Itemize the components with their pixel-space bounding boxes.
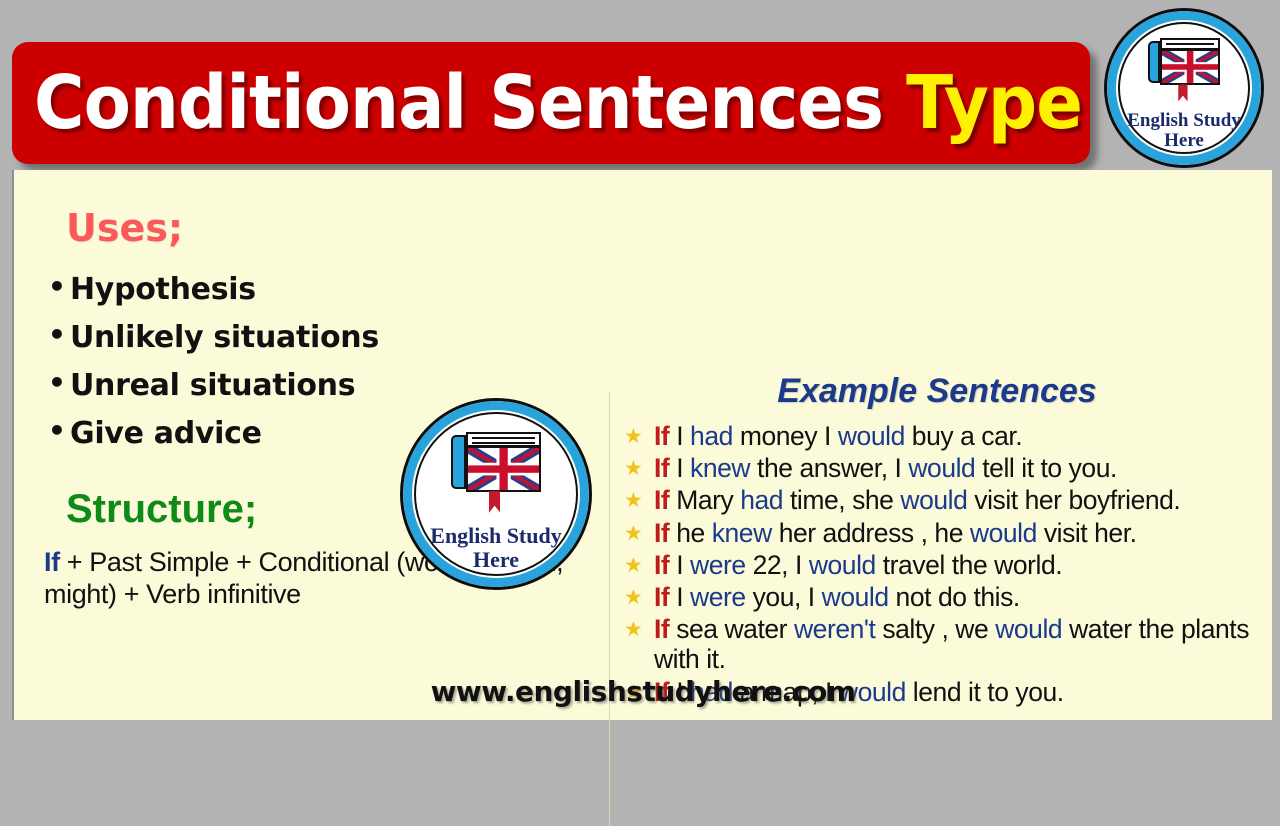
list-item: ★If I had money I would buy a car. (622, 421, 1280, 451)
examples-heading: Example Sentences (622, 372, 1280, 411)
keyword-verb: weren't (794, 614, 875, 644)
sentence-text: salty , we (875, 614, 995, 644)
sentence-text: I (669, 453, 690, 483)
page-title-space (883, 60, 906, 146)
book-uk-flag-icon (451, 432, 541, 493)
page-title-main: Conditional Sentences (34, 60, 883, 146)
title-banner: Conditional Sentences Type 2 (12, 42, 1090, 164)
book-spine (451, 435, 465, 489)
keyword-verb: knew (690, 453, 750, 483)
star-icon: ★ (624, 588, 643, 607)
book-uk-flag-icon (1148, 38, 1220, 85)
sentence-text: I (669, 582, 690, 612)
logo-inner: English Study Here (1118, 22, 1250, 154)
sentence-text: he (669, 518, 711, 548)
list-item: ★If I knew the answer, I would tell it t… (622, 453, 1280, 483)
uk-flag-svg (1162, 51, 1218, 83)
sentence-text: you, I (746, 582, 822, 612)
star-icon: ★ (624, 556, 643, 575)
list-item: ★If he knew her address , he would visit… (622, 518, 1280, 548)
sentence-text: buy a car. (905, 421, 1022, 451)
keyword-verb: would (900, 485, 967, 515)
keyword-if: If (654, 614, 669, 644)
keyword-verb: would (908, 453, 975, 483)
keyword-verb: knew (712, 518, 772, 548)
logo-brand-line1: English Study (430, 523, 561, 548)
uk-flag-icon (466, 446, 541, 492)
keyword-verb: would (822, 582, 889, 612)
list-item: ★If I were 22, I would travel the world. (622, 550, 1280, 580)
list-item: ★If I were you, I would not do this. (622, 582, 1280, 612)
uses-heading: Uses; (66, 206, 604, 250)
logo-brand-line1: English Study (1127, 110, 1241, 131)
examples-list: ★If I had money I would buy a car.★If I … (622, 421, 1280, 707)
sentence-text: I (669, 421, 690, 451)
keyword-if: If (654, 518, 669, 548)
book-text-lines (466, 432, 541, 448)
sentence-text: Mary (669, 485, 740, 515)
keyword-verb: were (690, 582, 746, 612)
uk-flag-icon (1160, 49, 1220, 85)
list-item: ★If Mary had time, she would visit her b… (622, 485, 1280, 515)
keyword-verb: had (740, 485, 783, 515)
sentence-text: her address , he (772, 518, 970, 548)
brand-logo-center: English Study Here (400, 398, 592, 590)
sentence-text: visit her boyfriend. (967, 485, 1180, 515)
logo-brand-line2: Here (1164, 130, 1204, 151)
sentence-text: visit her. (1037, 518, 1137, 548)
logo-brand-line2: Here (473, 547, 519, 572)
keyword-verb: were (690, 550, 746, 580)
sentence-text: time, she (783, 485, 900, 515)
keyword-verb: would (838, 421, 905, 451)
logo-inner: English Study Here (414, 412, 578, 576)
page-title: Conditional Sentences Type 2 (34, 66, 1090, 140)
keyword-if: If (654, 453, 669, 483)
list-item: Unreal situations (44, 368, 604, 403)
logo-brand-name: English Study Here (1127, 111, 1241, 152)
book-spine (1148, 41, 1159, 83)
star-icon: ★ (624, 459, 643, 478)
keyword-verb: would (809, 550, 876, 580)
sentence-text: travel the world. (876, 550, 1062, 580)
structure-formula-if: If (44, 547, 60, 577)
keyword-if: If (654, 485, 669, 515)
uk-flag-svg (468, 448, 539, 490)
example-sentences-column: Example Sentences ★If I had money I woul… (622, 372, 1280, 709)
keyword-if: If (654, 421, 669, 451)
bookmark-ribbon-icon (1178, 84, 1187, 101)
keyword-verb: would (995, 614, 1062, 644)
star-icon: ★ (624, 620, 643, 639)
sentence-text: 22, I (746, 550, 809, 580)
list-item: Unlikely situations (44, 320, 604, 355)
brand-logo-top: English Study Here (1104, 8, 1264, 168)
sentence-text: tell it to you. (975, 453, 1117, 483)
list-item: ★If sea water weren't salty , we would w… (622, 614, 1280, 674)
keyword-verb: had (690, 421, 733, 451)
star-icon: ★ (624, 491, 643, 510)
sentence-text: I (669, 550, 690, 580)
sentence-text: not do this. (889, 582, 1020, 612)
sentence-text: money I (733, 421, 838, 451)
bookmark-ribbon-icon (489, 491, 501, 513)
sentence-text: the answer, I (750, 453, 908, 483)
logo-brand-name: English Study Here (430, 524, 561, 572)
content-panel: Uses; Hypothesis Unlikely situations Unr… (12, 170, 1272, 720)
keyword-if: If (654, 582, 669, 612)
sentence-text: sea water (669, 614, 794, 644)
star-icon: ★ (624, 524, 643, 543)
keyword-if: If (654, 550, 669, 580)
list-item: Hypothesis (44, 272, 604, 307)
star-icon: ★ (624, 427, 643, 446)
page-title-accent: Type 2 (906, 60, 1090, 146)
column-divider (609, 392, 610, 826)
keyword-verb: would (970, 518, 1037, 548)
footer-website-url: www.englishstudyhere.com (14, 675, 1272, 708)
